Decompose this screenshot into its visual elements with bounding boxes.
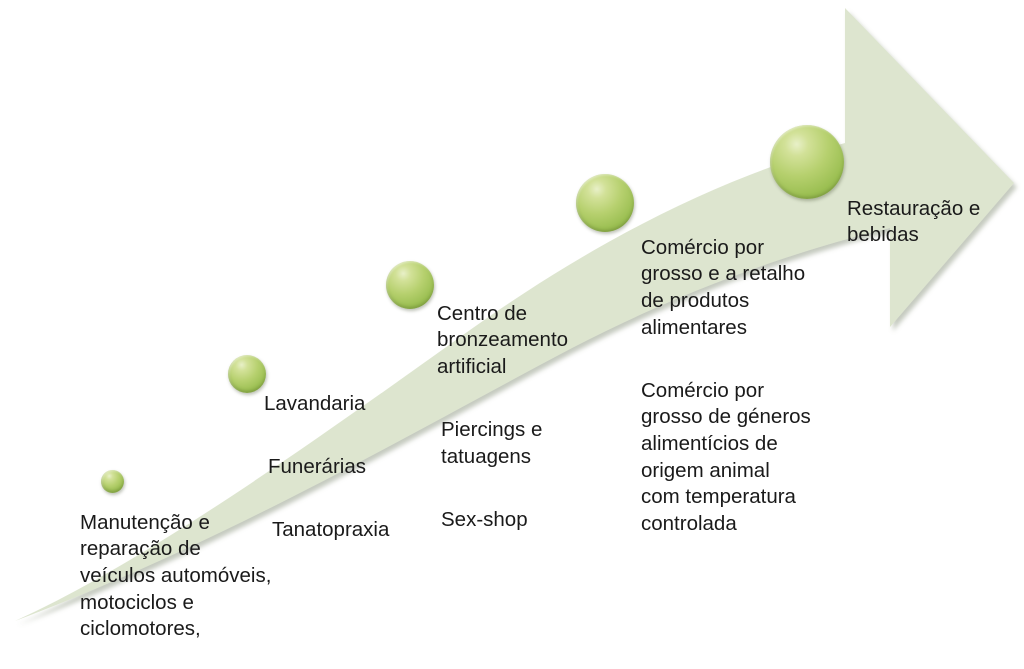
node-label-group-5: Restauração e bebidas [847,169,980,276]
diagram-canvas: Manutenção e reparação de veículos autom… [0,0,1024,643]
label-line: Sex-shop [437,507,568,534]
node-label-group-1: Manutenção e reparação de veículos autom… [80,483,271,669]
label-line: Centro de bronzeamento artificial [437,301,568,381]
label-line: Lavandaria [264,391,389,418]
node-dot-2[interactable] [228,355,266,393]
label-line: Manutenção e reparação de veículos autom… [80,510,271,643]
label-line: Piercings e tatuagens [437,417,568,470]
label-line: Comércio por grosso de géneros alimentíc… [641,378,811,538]
node-dot-3[interactable] [386,261,434,309]
node-dot-4[interactable] [576,174,634,232]
node-label-group-3: Centro de bronzeamento artificial Pierci… [437,274,568,560]
label-line: Tanatopraxia [264,517,389,544]
label-line: Funerárias [264,454,389,481]
label-line: Restauração e bebidas [847,196,980,249]
node-label-group-2: Lavandaria Funerárias Tanatopraxia [264,364,389,570]
node-label-group-4: Comércio por grosso e a retalho de produ… [641,208,811,564]
label-line: Comércio por grosso e a retalho de produ… [641,235,811,342]
node-dot-5[interactable] [770,125,844,199]
